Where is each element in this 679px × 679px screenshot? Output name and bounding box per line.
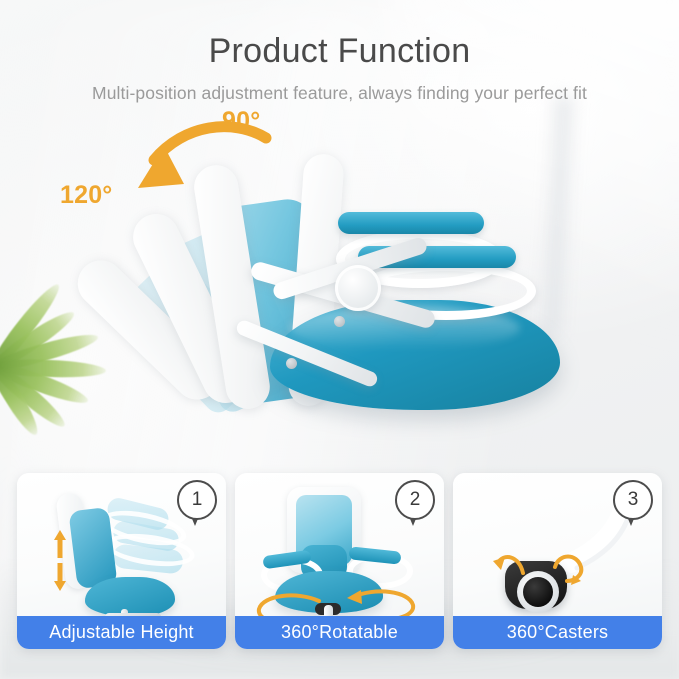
tilt-mechanism-hub [335, 265, 381, 311]
page-title: Product Function [0, 32, 679, 71]
badge-number-2: 2 [395, 480, 435, 520]
card1-seat [85, 577, 175, 616]
page-subtitle: Multi-position adjustment feature, alway… [0, 83, 679, 104]
feature-card-1-art: 1 [17, 473, 226, 616]
badge-number-3: 3 [613, 480, 653, 520]
feature-card-3-art: 3 [453, 473, 662, 616]
badge-pin-1: 1 [177, 480, 215, 530]
angle-label-120: 120° [60, 181, 113, 210]
rotation-arrow-icon-right [347, 585, 419, 616]
rotation-arrow-icon-caster-left [493, 551, 527, 581]
down-arrow-icon [53, 563, 67, 591]
feature-card-3[interactable]: 3 360°Casters [453, 473, 662, 649]
feature-caption-3: 360°Casters [453, 616, 662, 649]
feature-card-2-art: 2 [235, 473, 444, 616]
feature-cards: 1 Adjustable Height [17, 473, 662, 649]
product-function-infographic: Product Function Multi-position adjustme… [0, 0, 679, 679]
badge-pin-2: 2 [395, 480, 433, 530]
frame-bolt-b [286, 358, 297, 369]
feature-card-1[interactable]: 1 Adjustable Height [17, 473, 226, 649]
card1-base [105, 613, 161, 616]
feature-caption-2: 360°Rotatable [235, 616, 444, 649]
badge-number-1: 1 [177, 480, 217, 520]
badge-pin-3: 3 [613, 480, 651, 530]
frame-bolt-a [334, 316, 345, 327]
up-arrow-icon [53, 530, 67, 558]
rotation-arrow-icon-left [253, 591, 325, 616]
angle-label-90: 90° [222, 107, 260, 136]
armrest-pad-upper [338, 212, 484, 234]
feature-caption-1: Adjustable Height [17, 616, 226, 649]
rotation-arrow-icon-caster-right [551, 551, 585, 585]
card2-gas-lift-post [324, 605, 333, 616]
feature-card-2[interactable]: 2 360°Rotatable [235, 473, 444, 649]
